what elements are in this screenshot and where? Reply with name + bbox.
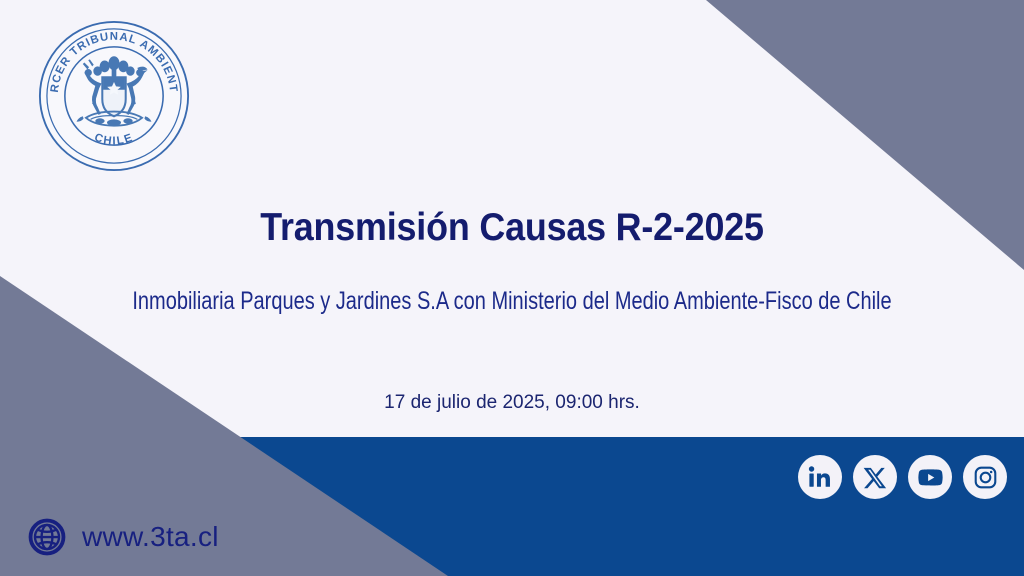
slide-datetime: 17 de julio de 2025, 09:00 hrs. [0, 392, 1024, 414]
slide-title: Transmisión Causas R-2-2025 [41, 206, 983, 250]
presentation-slide: TERCER TRIBUNAL AMBIENTAL CHILE [0, 0, 1024, 576]
linkedin-icon [807, 464, 833, 490]
website-url: www.3ta.cl [82, 521, 219, 553]
instagram-link[interactable] [963, 455, 1007, 499]
youtube-link[interactable] [908, 455, 952, 499]
globe-icon [28, 518, 66, 556]
website-footer[interactable]: www.3ta.cl [28, 518, 219, 556]
social-links [798, 455, 1007, 499]
x-twitter-icon [863, 465, 888, 490]
youtube-icon [917, 464, 944, 491]
instagram-icon [973, 465, 998, 490]
slide-subtitle: Inmobiliaria Parques y Jardines S.A con … [102, 287, 921, 316]
x-twitter-link[interactable] [853, 455, 897, 499]
tercer-tribunal-ambiental-logo: TERCER TRIBUNAL AMBIENTAL CHILE [36, 18, 192, 174]
linkedin-link[interactable] [798, 455, 842, 499]
